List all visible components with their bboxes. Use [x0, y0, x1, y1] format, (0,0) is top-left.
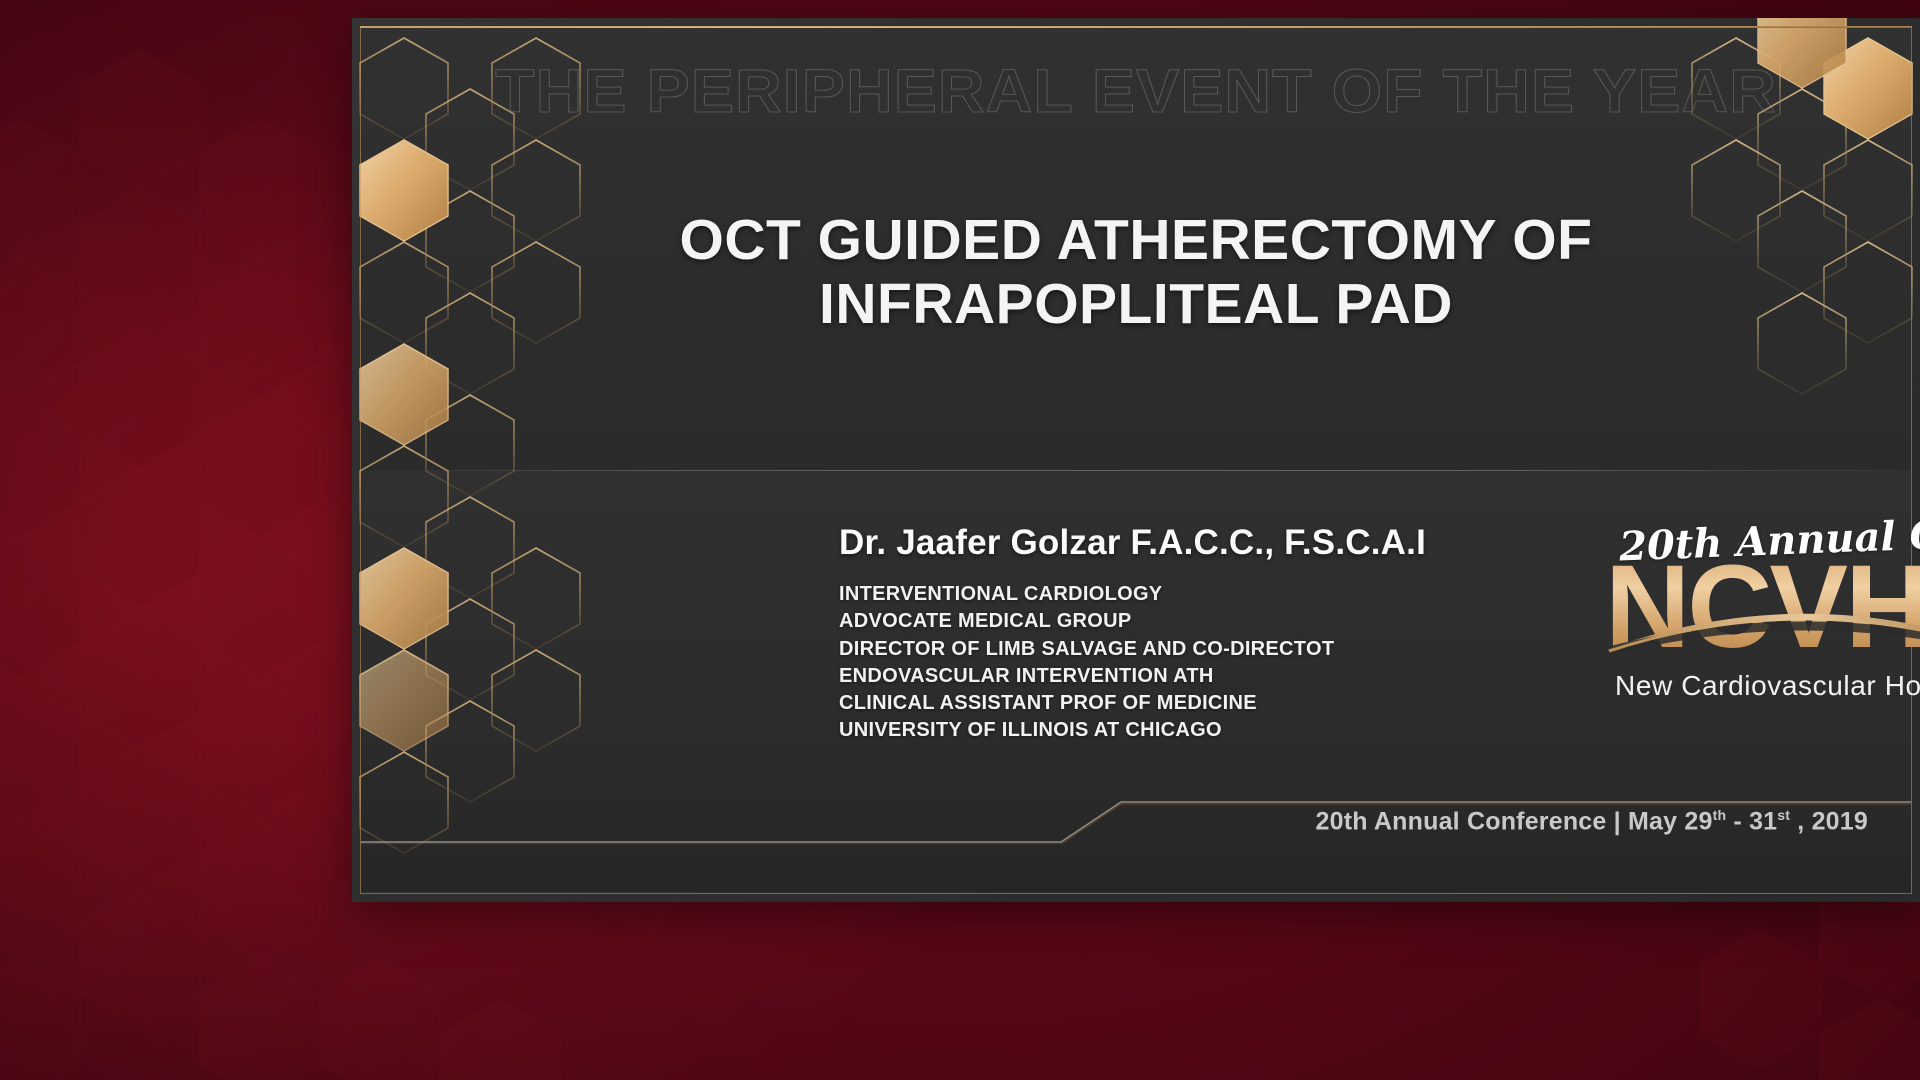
- speaker-block: Dr. Jaafer Golzar F.A.C.C., F.S.C.A.I IN…: [839, 523, 1499, 745]
- footer-conference: 20th Annual Conference: [1315, 807, 1606, 835]
- footer-sup-th: th: [1713, 807, 1727, 823]
- footer-date-line: 20th Annual Conference | May 29th - 31st…: [1315, 807, 1868, 836]
- footer-separator: |: [1614, 807, 1621, 835]
- speaker-affiliation: CLINICAL ASSISTANT PROF OF MEDICINE: [839, 690, 1499, 717]
- speaker-name: Dr. Jaafer Golzar F.A.C.C., F.S.C.A.I: [839, 523, 1499, 563]
- slide-band-divider: [361, 470, 1911, 471]
- speaker-affiliation: ADVOCATE MEDICAL GROUP: [839, 608, 1499, 635]
- screen: THE PERIPHERAL EVENT OF THE YEAR OCT GUI…: [0, 0, 1920, 1080]
- slide-top-gold-rule: [360, 26, 1912, 28]
- footer-sup-st: st: [1777, 807, 1790, 823]
- footer-year: , 2019: [1790, 807, 1868, 835]
- title-block: OCT GUIDED ATHERECTOMY OF INFRAPOPLITEAL…: [472, 208, 1800, 337]
- speaker-affiliation: DIRECTOR OF LIMB SALVAGE AND CO-DIRECTOT: [839, 636, 1499, 663]
- footer-month: May 29: [1628, 807, 1713, 835]
- speaker-affiliation-list: INTERVENTIONAL CARDIOLOGY ADVOCATE MEDIC…: [839, 581, 1499, 745]
- speaker-affiliation: ENDOVASCULAR INTERVENTION ATH: [839, 663, 1499, 690]
- ghost-headline: THE PERIPHERAL EVENT OF THE YEAR: [352, 56, 1920, 126]
- title-line-1: OCT GUIDED ATHERECTOMY OF: [472, 208, 1800, 272]
- speaker-affiliation: INTERVENTIONAL CARDIOLOGY: [839, 581, 1499, 608]
- title-line-2: INFRAPOPLITEAL PAD: [472, 272, 1800, 336]
- footer-dash: - 31: [1726, 807, 1777, 835]
- ncvh-logo: 20th Annual Conference NCVH: [1605, 513, 1920, 728]
- ncvh-wordmark-icon: NCVH: [1605, 547, 1920, 665]
- presentation-slide: THE PERIPHERAL EVENT OF THE YEAR OCT GUI…: [352, 18, 1920, 902]
- speaker-affiliation: UNIVERSITY OF ILLINOIS AT CHICAGO: [839, 717, 1499, 744]
- logo-tagline: New Cardiovascular Horizons: [1615, 670, 1920, 702]
- svg-text:NCVH: NCVH: [1605, 547, 1920, 665]
